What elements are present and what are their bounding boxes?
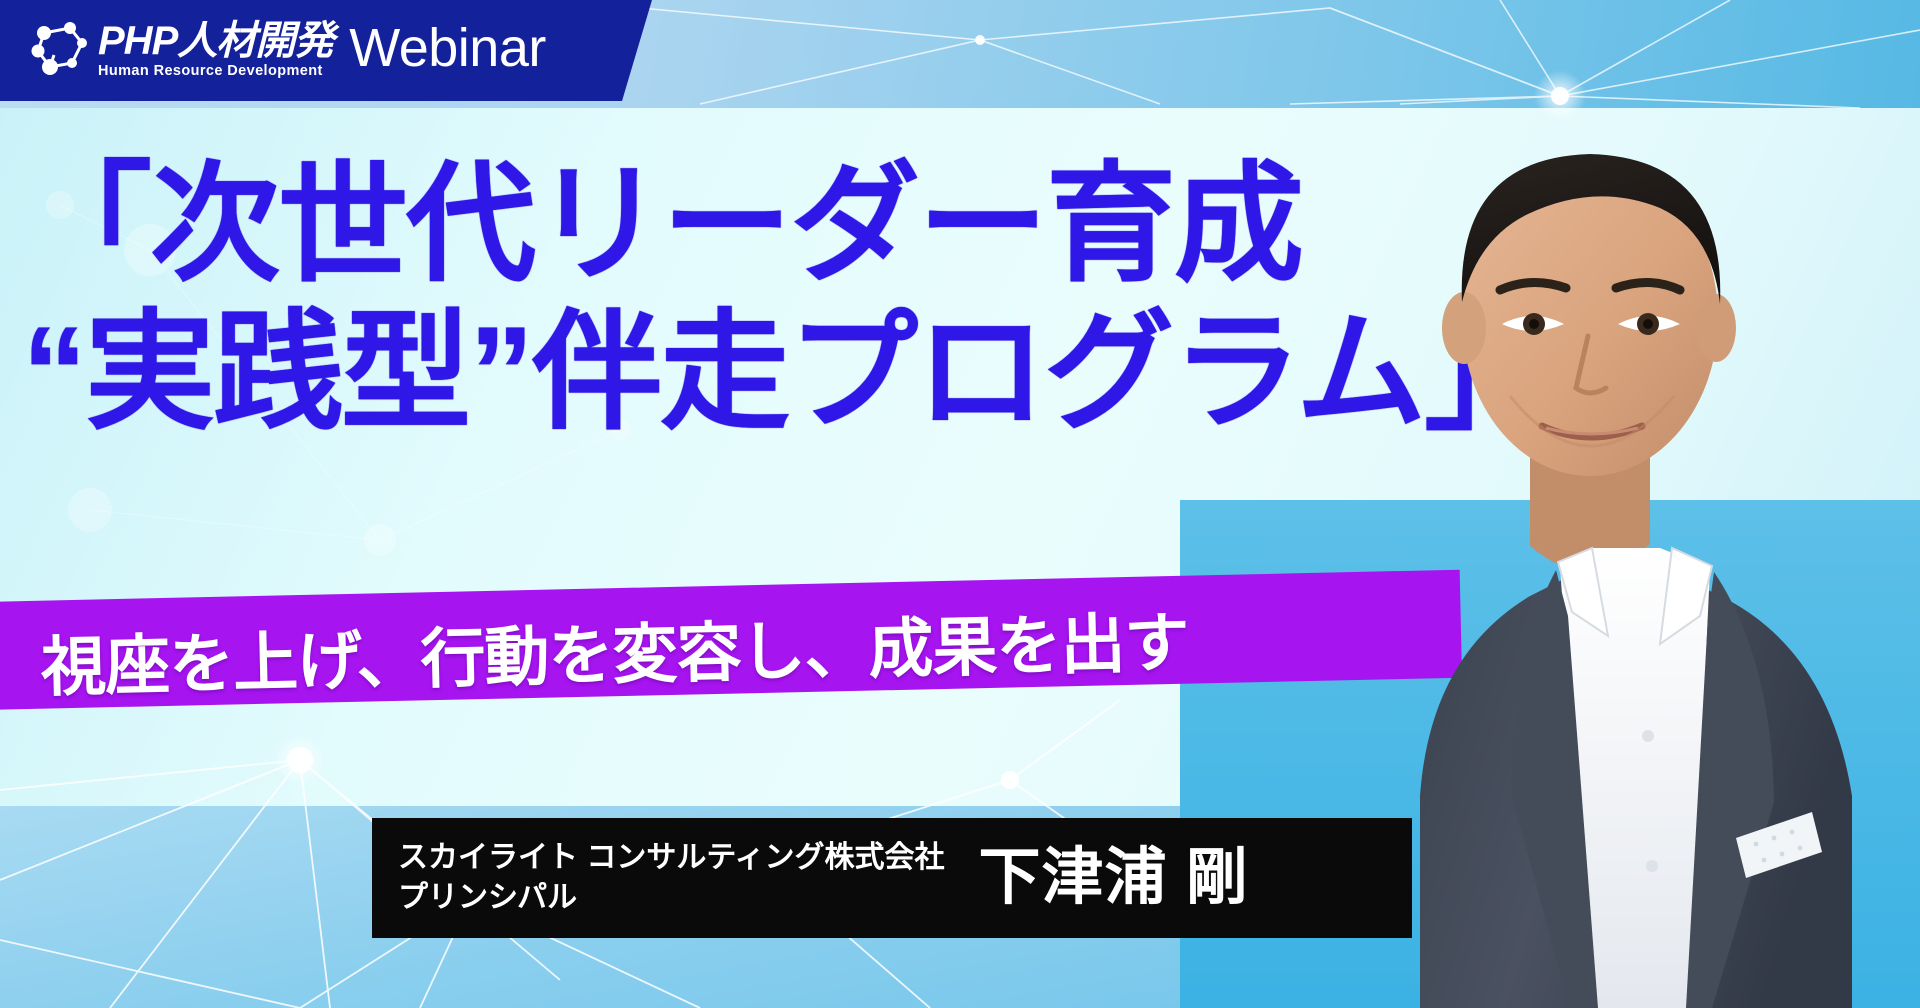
- webinar-banner: PHP人材開発 Human Resource Development Webin…: [0, 0, 1920, 1008]
- page-title: 「次世代リーダー育成 “実践型”伴走プログラム」: [22, 150, 1552, 446]
- speaker-affiliation: スカイライト コンサルティング株式会社 プリンシパル: [398, 838, 945, 918]
- logo-sub-text: Human Resource Development: [98, 63, 333, 79]
- title-line-2: “実践型”伴走プログラム」: [22, 298, 1552, 446]
- speaker-company: スカイライト コンサルティング株式会社: [398, 838, 945, 878]
- logo-main-text: PHP人材開発: [98, 21, 333, 61]
- speaker-photo: [1360, 96, 1920, 1008]
- logo-webinar-text: Webinar: [349, 21, 546, 79]
- speaker-info-bar: スカイライト コンサルティング株式会社 プリンシパル 下津浦 剛: [372, 818, 1412, 938]
- molecule-network-icon: [30, 19, 92, 81]
- speaker-name: 下津浦 剛: [979, 847, 1249, 909]
- title-line-1: 「次世代リーダー育成: [22, 150, 1552, 298]
- logo-banner: PHP人材開発 Human Resource Development Webin…: [0, 0, 660, 101]
- logo-text-block: PHP人材開発 Human Resource Development: [98, 21, 333, 79]
- logo-inner: PHP人材開発 Human Resource Development Webin…: [30, 8, 546, 92]
- speaker-role: プリンシパル: [398, 878, 945, 918]
